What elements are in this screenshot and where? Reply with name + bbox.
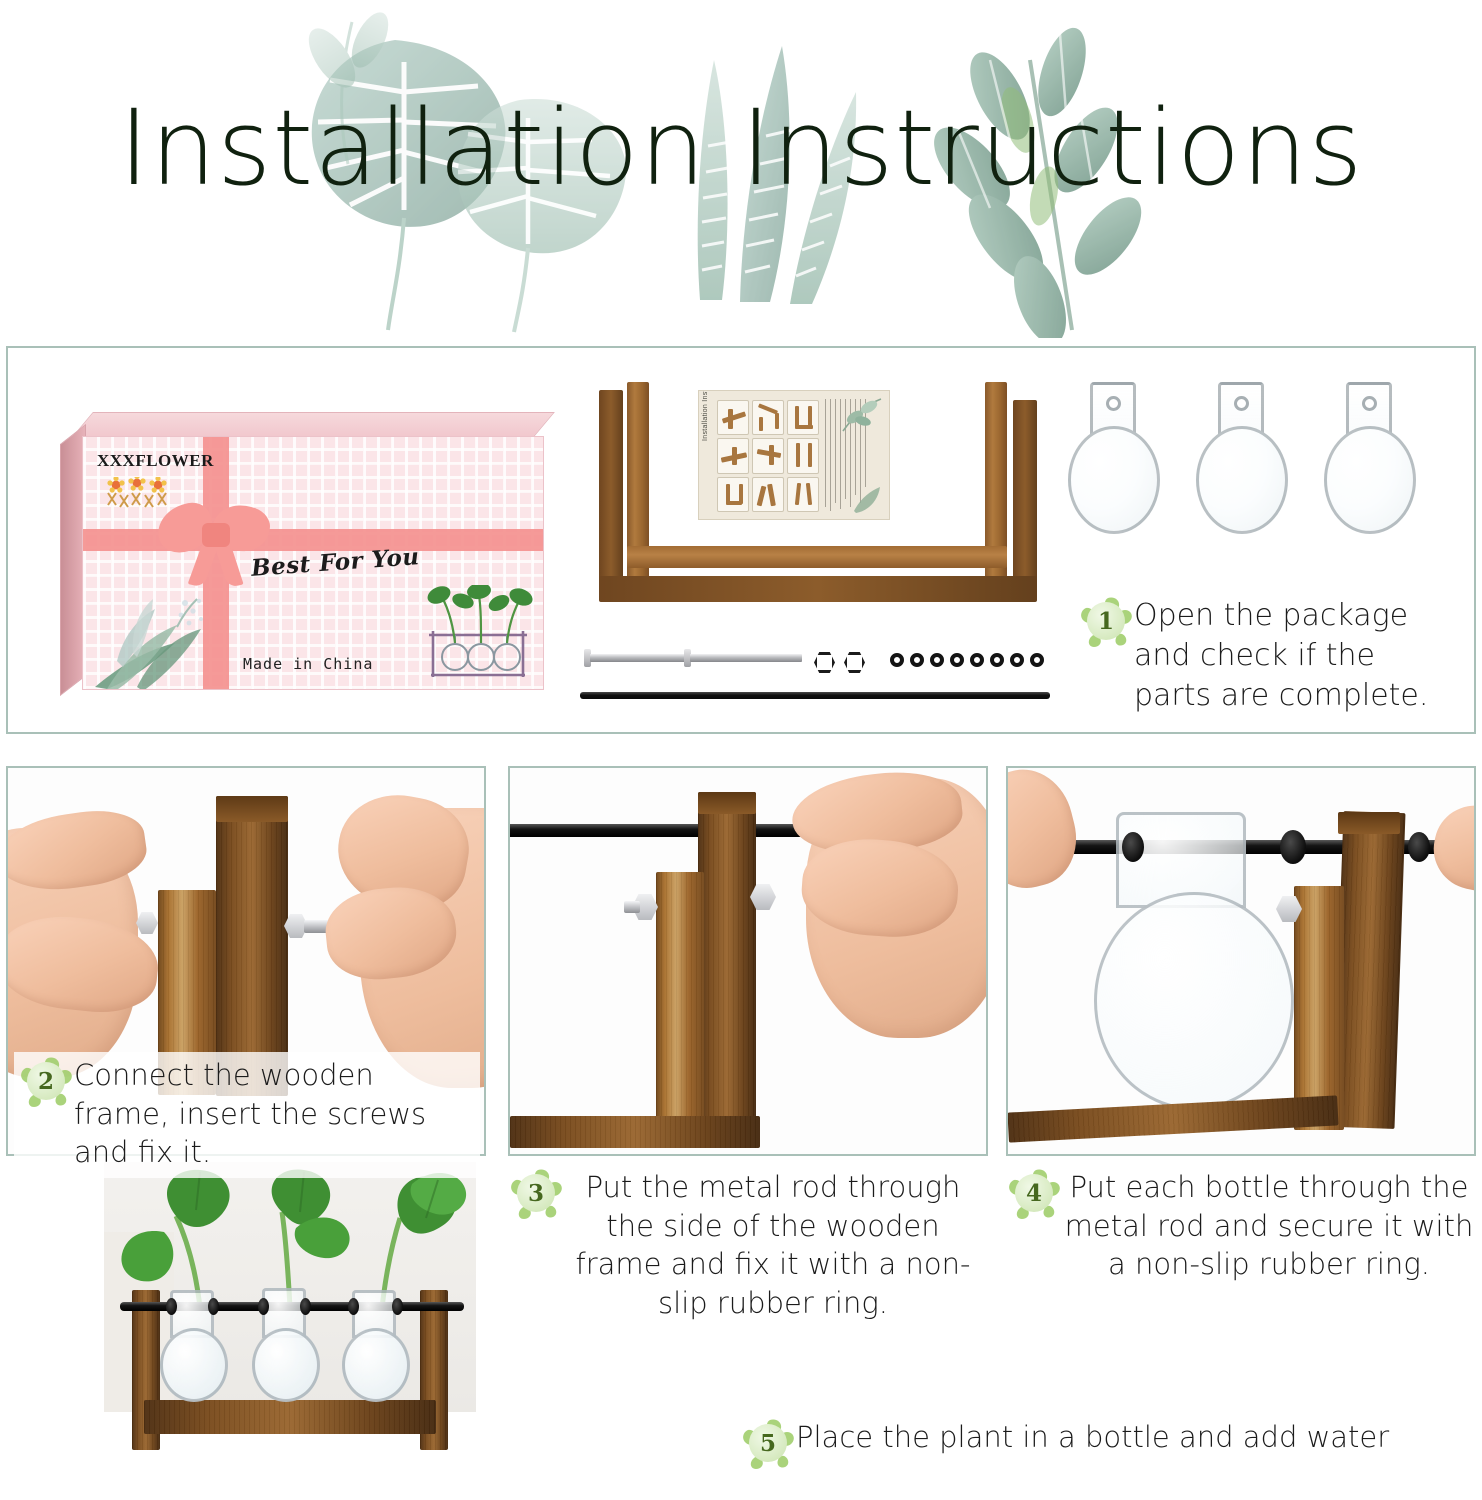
box-product-illustration (423, 585, 533, 685)
step-number-5: 5 (749, 1424, 787, 1462)
step-1-text: Open the package and check if the parts … (1134, 596, 1452, 716)
step-1: 1 Open the package and check if the part… (1078, 596, 1458, 716)
glass-bottle (1060, 382, 1168, 562)
stand-base (144, 1400, 436, 1434)
wooden-frame-parts: Installation Instructions (585, 378, 1050, 628)
box-ribbon-horizontal (83, 529, 544, 551)
step-4-text: Put each bottle through the metal rod an… (1062, 1168, 1476, 1284)
metal-rod (580, 692, 1050, 699)
box-front-face: XXXFLOWER Best For You Made in China (82, 436, 544, 690)
step-badge-5: 5 (740, 1418, 796, 1470)
step-5: 5 Place the plant in a bottle and add wa… (740, 1418, 1440, 1470)
instruction-card-grid (717, 400, 819, 512)
rubber-ring (348, 1298, 359, 1315)
rubber-ring (930, 653, 944, 667)
rubber-ring (208, 1298, 219, 1315)
step-2: 2 Connect the wooden frame, insert the s… (14, 1052, 480, 1178)
frame-leg-front-right (1013, 400, 1037, 594)
box-top-face (71, 412, 555, 438)
rubber-ring (258, 1298, 269, 1315)
rubber-ring (1030, 653, 1044, 667)
header: Installation Instructions (0, 0, 1482, 338)
step-2-text: Connect the wooden frame, insert the scr… (74, 1056, 472, 1172)
wood-leg-top-end (1338, 812, 1400, 834)
step-5-text: Place the plant in a bottle and add wate… (796, 1418, 1436, 1457)
card-cell (717, 438, 749, 473)
wood-leg-front (698, 792, 756, 1148)
rubber-ring (1010, 653, 1024, 667)
card-cell (752, 438, 784, 473)
rubber-ring (392, 1298, 403, 1315)
frame-leg-front-left (599, 390, 623, 594)
card-cell (787, 438, 819, 473)
rubber-ring (890, 653, 904, 667)
box-brand-label: XXXFLOWER (97, 451, 214, 471)
step-4-photo (1008, 768, 1474, 1154)
glass-bottle (1316, 382, 1424, 562)
bottle-hang-hole (1106, 396, 1121, 411)
card-leaf-icon (839, 395, 885, 435)
glass-bottles-group (1060, 382, 1460, 562)
card-cell (717, 400, 749, 435)
step-badge-1: 1 (1078, 596, 1134, 648)
step-number-2: 2 (27, 1062, 65, 1100)
hex-nut (814, 652, 835, 673)
step-3-text: Put the metal rod through the side of th… (564, 1168, 982, 1322)
finger (1008, 768, 1087, 898)
step-badge-2: 2 (18, 1056, 74, 1108)
card-leaf-stamp-icon (850, 485, 884, 515)
step-4-photo-panel (1006, 766, 1476, 1156)
step-badge-4: 4 (1006, 1168, 1062, 1220)
step-3: 3 Put the metal rod through the side of … (508, 1168, 986, 1322)
rubber-ring (1408, 832, 1430, 862)
wood-piece-back (216, 796, 288, 1096)
step-number-3: 3 (517, 1174, 555, 1212)
glass-bottle-bulb (1094, 892, 1294, 1110)
card-cell (787, 400, 819, 435)
instruction-card-title: Installation Instructions (702, 390, 709, 441)
card-cell (752, 477, 784, 512)
product-package-box: XXXFLOWER Best For You Made in China (30, 412, 550, 700)
glass-bottle (1188, 382, 1296, 562)
hardware-parts-group (580, 640, 1050, 710)
card-cell (752, 400, 784, 435)
hex-nut (844, 652, 865, 673)
embroidered-flowers-icon (103, 477, 177, 509)
page-title: Installation Instructions (0, 96, 1482, 200)
wood-leg-top-end (698, 792, 756, 814)
rubber-ring (990, 653, 1004, 667)
finished-product-photo (104, 1162, 476, 1500)
wood-base (510, 1116, 760, 1148)
step-3-photo (510, 768, 986, 1154)
frame-base-front (599, 576, 1037, 602)
finger (1426, 798, 1474, 898)
wood-piece-top-end (216, 796, 288, 822)
rubber-ring (166, 1298, 177, 1315)
step-number-4: 4 (1015, 1174, 1053, 1212)
wood-leg-back (656, 872, 704, 1148)
rubber-ring (910, 653, 924, 667)
rubber-ring (1280, 830, 1306, 864)
instruction-card: Installation Instructions (698, 390, 890, 520)
screw-shaft (624, 901, 640, 913)
glass-vase-bulb (160, 1328, 228, 1402)
card-cell (717, 477, 749, 512)
hex-nut (136, 912, 158, 934)
wood-leg-back (1294, 886, 1344, 1130)
rubber-ring (1122, 832, 1144, 862)
step-3-photo-panel (508, 766, 988, 1156)
card-cell (787, 477, 819, 512)
glass-vase-bulb (342, 1328, 410, 1402)
step-badge-3: 3 (508, 1168, 564, 1220)
bottle-hang-hole (1234, 396, 1249, 411)
rubber-ring (950, 653, 964, 667)
screw-bolt (684, 652, 804, 664)
rubber-ring (970, 653, 984, 667)
rubber-ring (300, 1298, 311, 1315)
frame-base-back (627, 546, 1007, 568)
box-origin-label: Made in China (243, 655, 373, 673)
glass-vase-bulb (252, 1328, 320, 1402)
bottle-hang-hole (1362, 396, 1377, 411)
step-4: 4 Put each bottle through the metal rod … (1006, 1168, 1480, 1284)
step-number-1: 1 (1087, 602, 1125, 640)
box-floral-art (89, 587, 249, 690)
installation-instructions-page: Installation Instructions XXXFLOWER (0, 0, 1482, 1500)
